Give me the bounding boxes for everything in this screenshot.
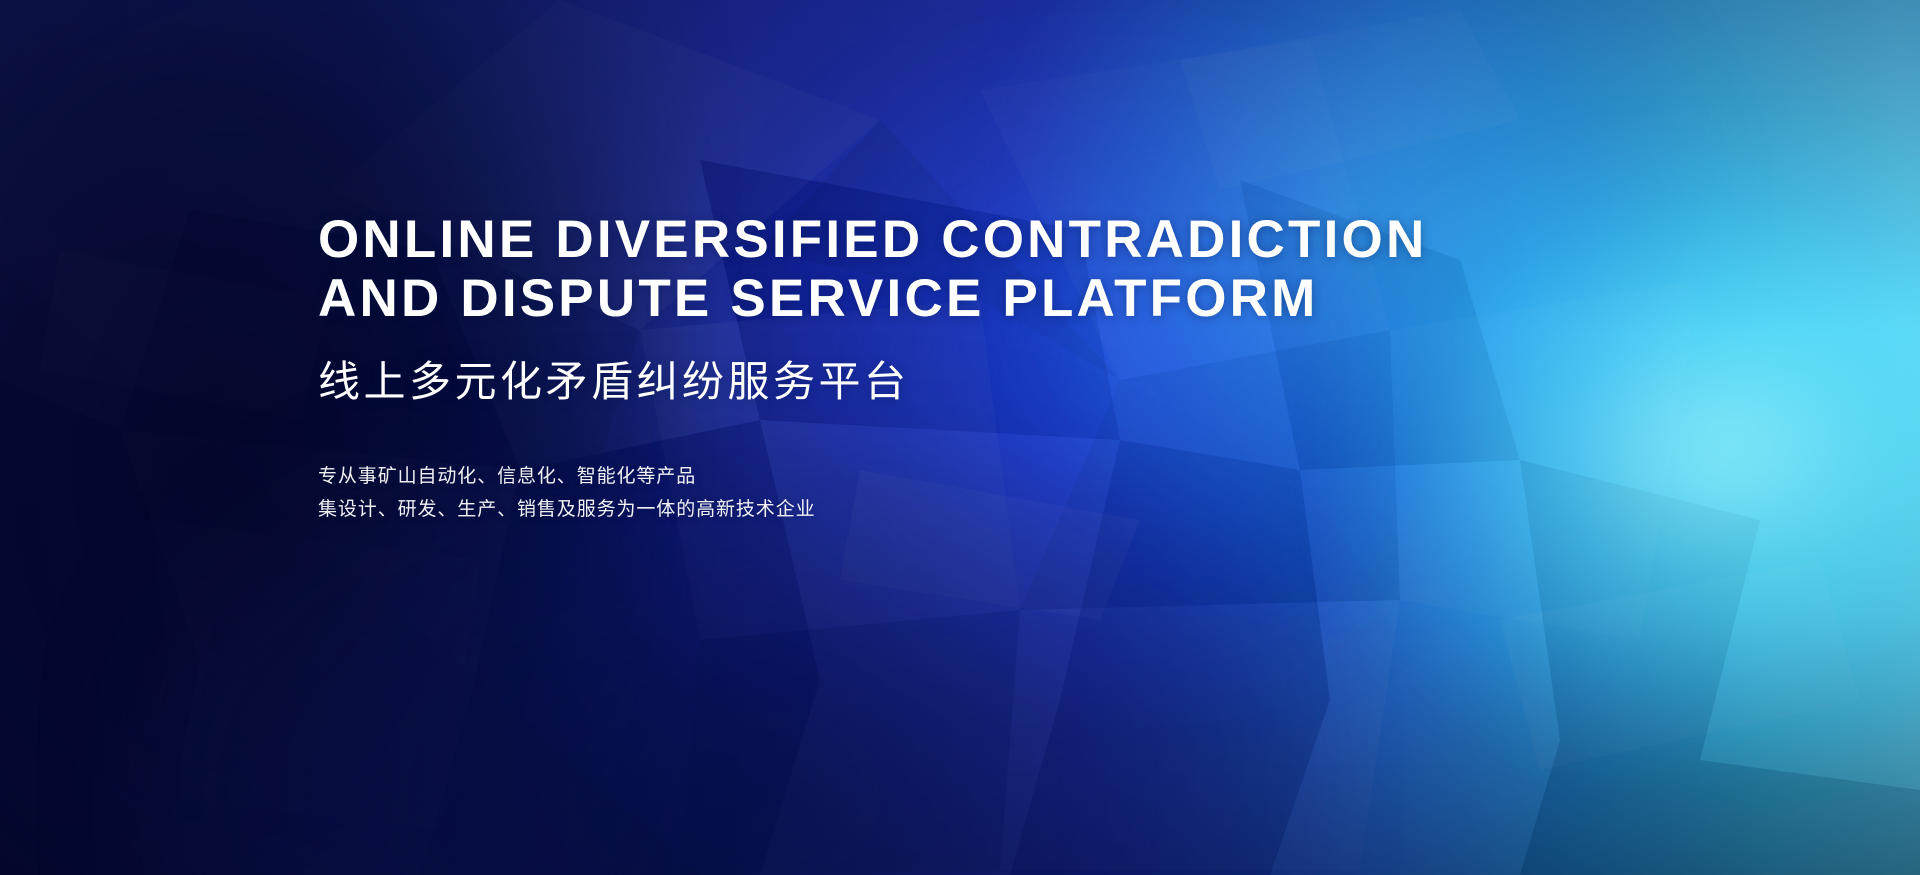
banner-description: 专从事矿山自动化、信息化、智能化等产品 集设计、研发、生产、销售及服务为一体的高… <box>318 460 1438 526</box>
description-line-1: 专从事矿山自动化、信息化、智能化等产品 <box>318 460 1438 493</box>
banner-content: ONLINE DIVERSIFIED CONTRADICTION AND DIS… <box>318 210 1438 526</box>
headline-line-2: AND DISPUTE SERVICE PLATFORM <box>318 269 1438 328</box>
banner-subtitle-chinese: 线上多元化矛盾纠纷服务平台 <box>318 356 1438 408</box>
headline-line-1: ONLINE DIVERSIFIED CONTRADICTION <box>318 210 1438 269</box>
description-line-2: 集设计、研发、生产、销售及服务为一体的高新技术企业 <box>318 493 1438 526</box>
banner-headline: ONLINE DIVERSIFIED CONTRADICTION AND DIS… <box>318 210 1438 328</box>
hero-banner: ONLINE DIVERSIFIED CONTRADICTION AND DIS… <box>0 0 1920 875</box>
